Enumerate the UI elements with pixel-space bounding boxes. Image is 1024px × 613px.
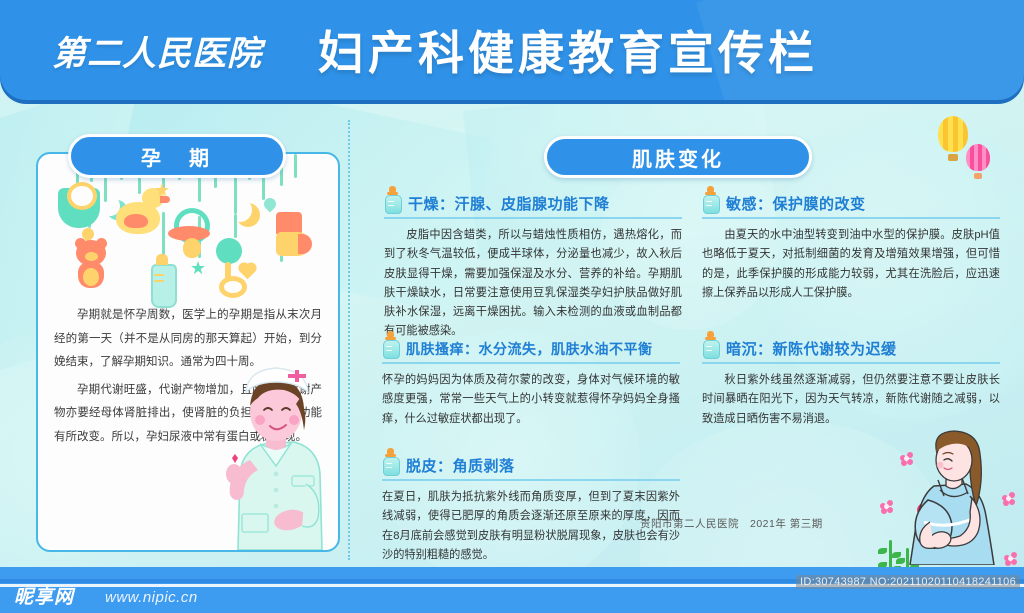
baby-bottle-icon	[702, 186, 719, 214]
section-header: 干燥：汗腺、皮脂腺功能下降	[384, 186, 682, 219]
section-header: 暗沉：新陈代谢较为迟缓	[702, 331, 1000, 364]
header-banner: 第二人民医院 妇产科健康教育宣传栏	[0, 0, 1024, 100]
watermark-logo: 昵享网	[14, 582, 74, 609]
baby-bottle-icon	[382, 448, 399, 476]
left-section-title: 孕 期	[68, 134, 286, 178]
section-title: 敏感：保护膜的改变	[726, 193, 866, 214]
section-body: 皮脂中因含蜡类，所以与蜡烛性质相仿，遇热熔化，而到了秋冬气温较低，便成半球体，分…	[384, 226, 682, 342]
section-dryness: 干燥：汗腺、皮脂腺功能下降 皮脂中因含蜡类，所以与蜡烛性质相仿，遇热熔化，而到了…	[384, 186, 682, 342]
section-body: 怀孕的妈妈因为体质及荷尔蒙的改变，身体对气候环境的敏感度更强，常常一些天气上的小…	[382, 371, 680, 429]
section-sensitivity: 敏感：保护膜的改变 由夏天的水中油型转变到油中水型的保护膜。皮肤pH值也略低于夏…	[702, 186, 1000, 303]
nurse-illustration	[210, 354, 340, 550]
rattle-icon	[216, 238, 242, 264]
baby-sock-icon	[276, 212, 302, 234]
section-body: 秋日紫外线虽然逐渐减弱，但仍然要注意不要让皮肤长时间暴晒在阳光下，因为天气转凉，…	[702, 371, 1000, 429]
section-header: 敏感：保护膜的改变	[702, 186, 1000, 219]
baby-bottle-icon	[382, 331, 399, 359]
poster-canvas: 第二人民医院 妇产科健康教育宣传栏 孕 期	[0, 0, 1024, 613]
section-title: 脱皮：角质剥落	[406, 455, 515, 476]
hospital-name: 第二人民医院	[52, 26, 262, 75]
section-itching: 肌肤搔痒：水分流失，肌肤水油不平衡 怀孕的妈妈因为体质及荷尔蒙的改变，身体对气候…	[382, 331, 680, 429]
leaf-icon	[878, 548, 887, 554]
left-content-card: ★ ★	[36, 152, 340, 552]
section-title: 肌肤搔痒：水分流失，肌肤水油不平衡	[406, 339, 653, 359]
column-divider	[348, 120, 350, 560]
section-title: 干燥：汗腺、皮脂腺功能下降	[408, 193, 610, 214]
section-header: 肌肤搔痒：水分流失，肌肤水油不平衡	[382, 331, 680, 364]
page-title: 妇产科健康教育宣传栏	[318, 17, 818, 83]
section-title: 暗沉：新陈代谢较为迟缓	[726, 338, 897, 359]
baby-bottle-icon	[384, 186, 401, 214]
section-header: 脱皮：角质剥落	[382, 448, 680, 481]
bib-icon	[58, 188, 100, 228]
credit-line: 贵阳市第二人民医院 2021年 第三期	[640, 516, 823, 531]
heart-yellow-icon	[240, 264, 256, 280]
watermark-url: www.nipic.cn	[105, 589, 198, 606]
section-peeling: 脱皮：角质剥落 在夏日，肌肤为抵抗紫外线而角质变厚，但到了夏末因紫外线减弱，使得…	[382, 448, 680, 565]
baby-bottle-icon	[702, 331, 719, 359]
teddy-bear-icon	[76, 240, 106, 266]
right-section-title: 肌肤变化	[544, 136, 812, 178]
section-dullness: 暗沉：新陈代谢较为迟缓 秋日紫外线虽然逐渐减弱，但仍然要注意不要让皮肤长时间暴晒…	[702, 331, 1000, 429]
watermark-id-text: ID:30743987 NO:20211020110418241106	[796, 575, 1020, 589]
hot-air-balloon-icon	[938, 116, 968, 152]
pregnant-woman-illustration	[890, 430, 1024, 565]
star-small-icon: ★	[154, 180, 170, 201]
moon-yellow-icon	[228, 198, 252, 222]
rubber-duck-icon	[116, 202, 160, 234]
hot-air-balloon-small-icon	[966, 144, 990, 171]
section-body: 由夏天的水中油型转变到油中水型的保护膜。皮肤pH值也略低于夏天，对抵制细菌的发育…	[702, 226, 1000, 303]
pacifier-icon	[174, 208, 210, 244]
section-body: 在夏日，肌肤为抵抗紫外线而角质变厚，但到了夏末因紫外线减弱，使得已肥厚的角质会逐…	[382, 488, 680, 565]
baby-bottle-toy-icon	[151, 264, 177, 308]
star-teal-icon: ★	[190, 258, 206, 279]
